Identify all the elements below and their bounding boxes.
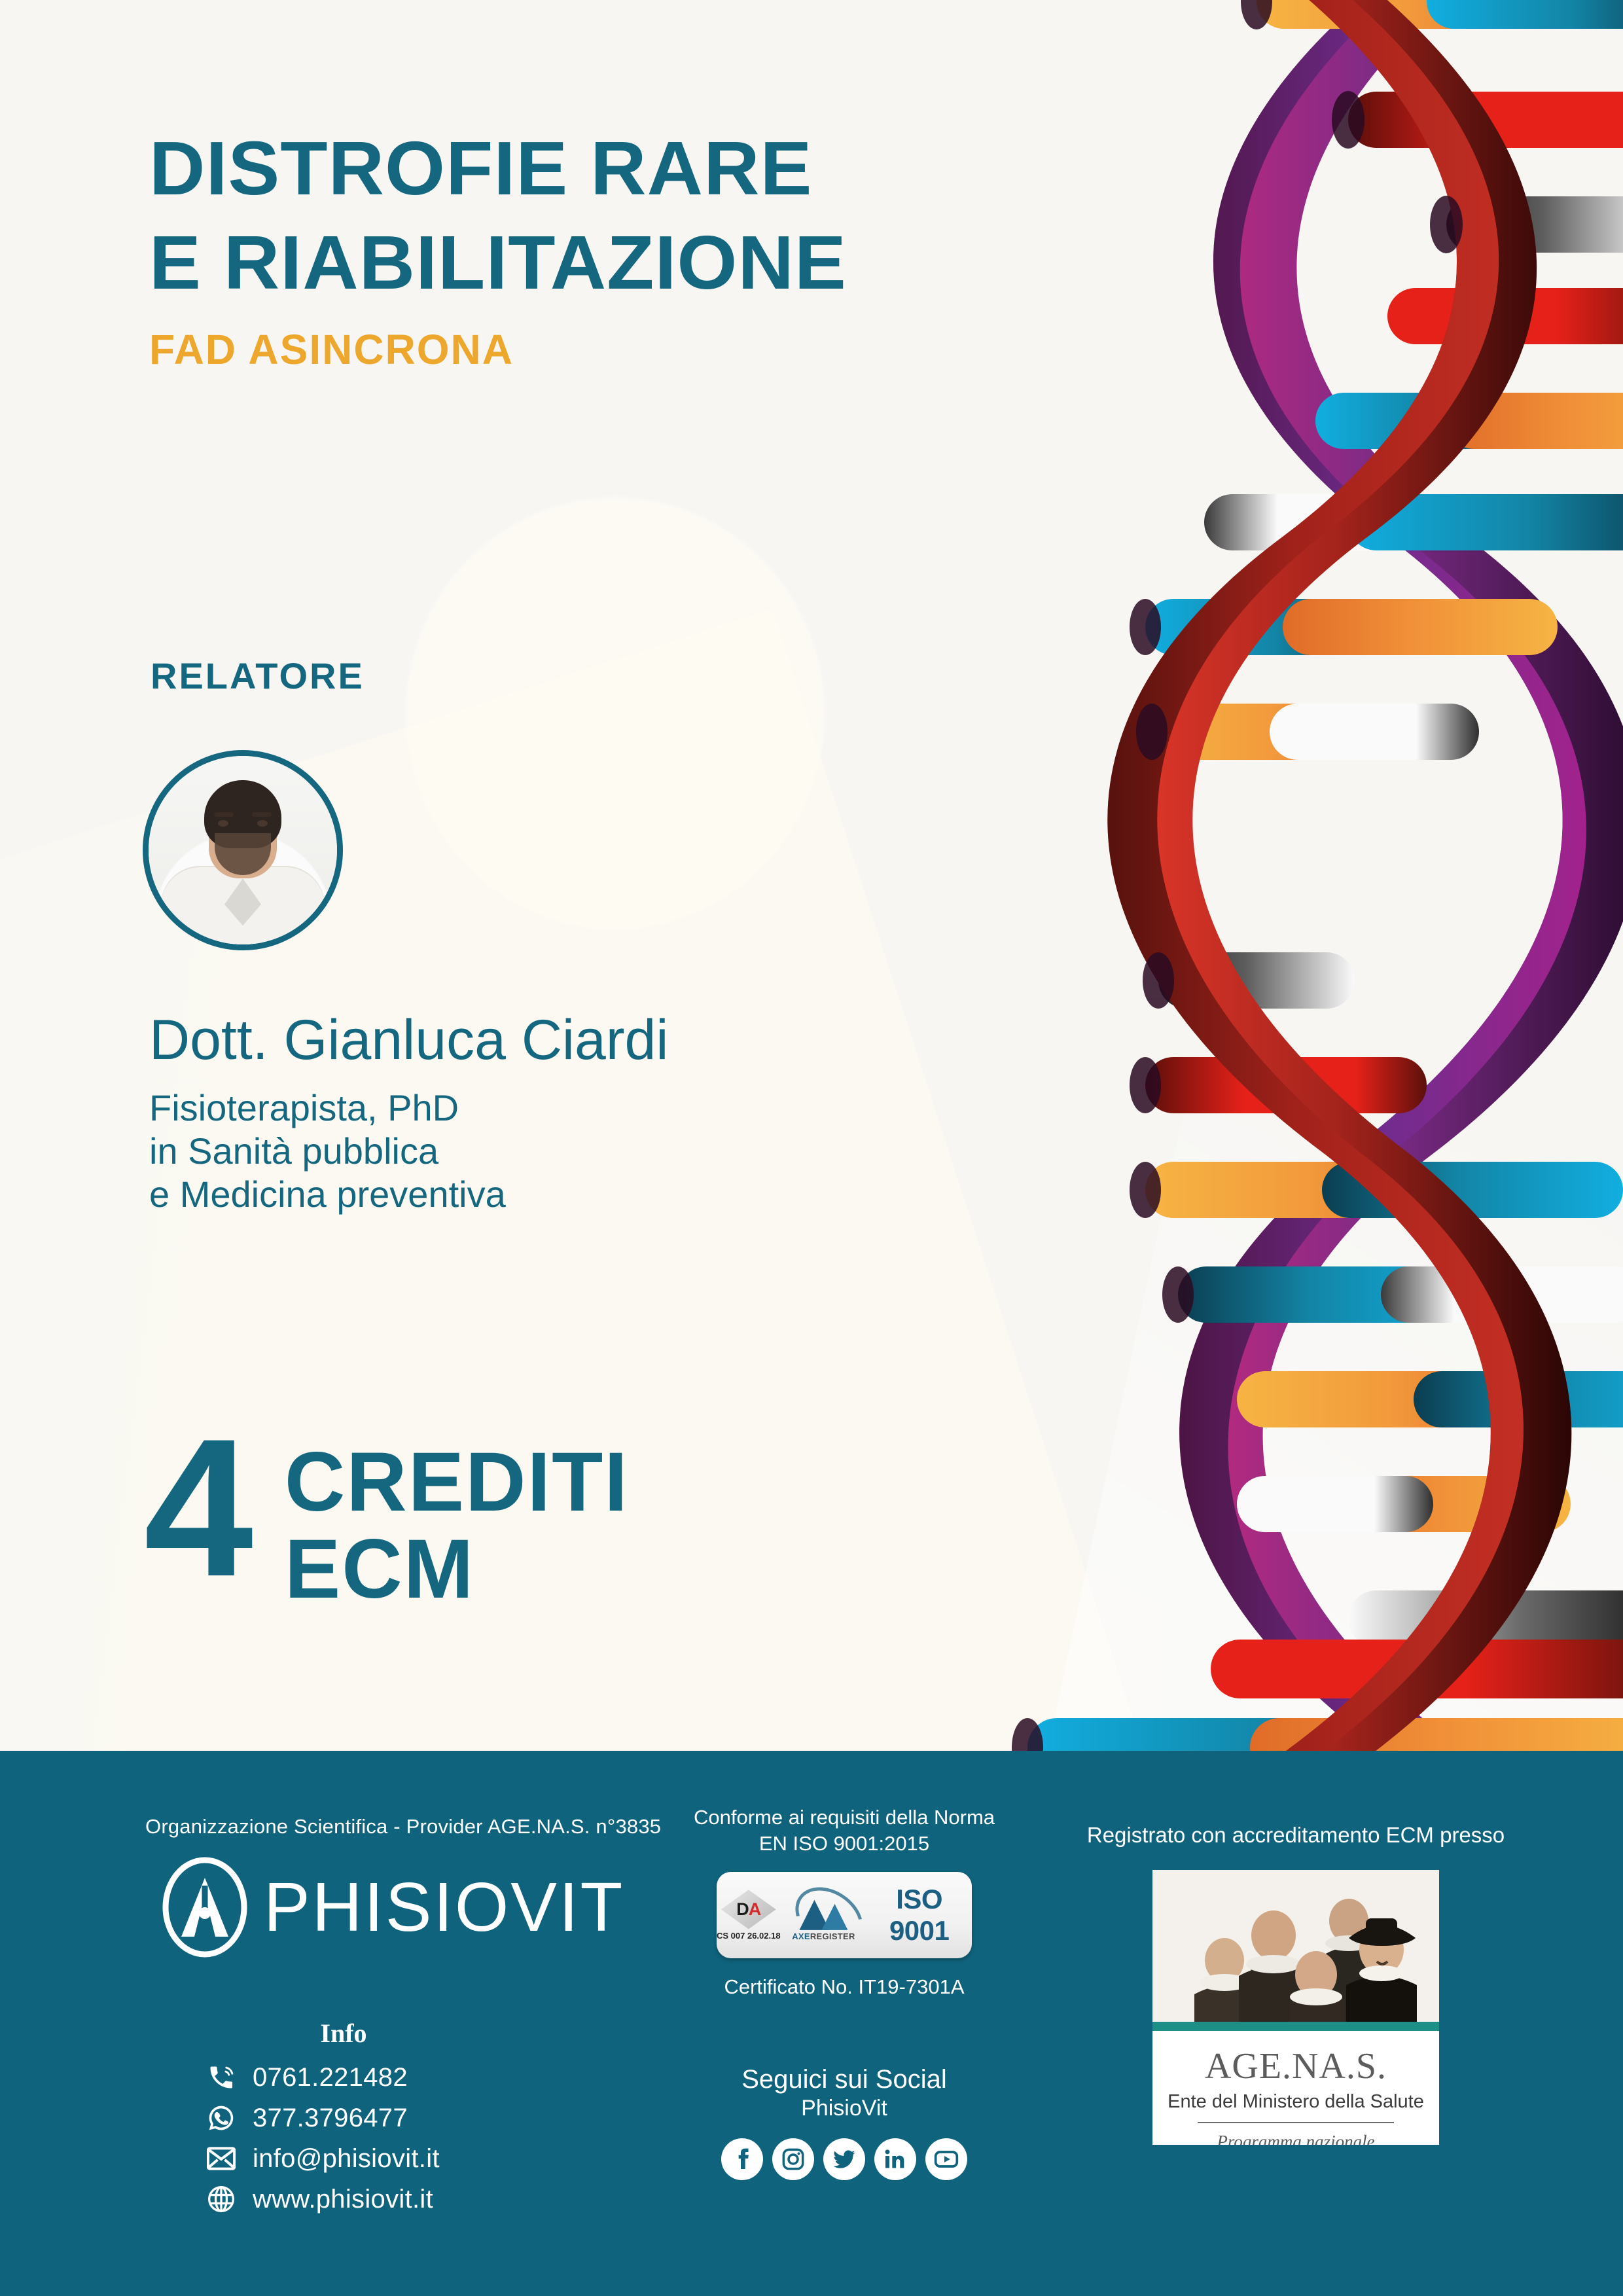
mail-icon [203, 2142, 240, 2175]
agenas-rule [1198, 2122, 1394, 2123]
info-heading: Info [236, 2018, 452, 2049]
page-title: DISTROFIE RARE E RIABILITAZIONE FAD ASIN… [149, 130, 1013, 374]
brand-name: PHISIOVIT [264, 1873, 624, 1942]
title-line-1: DISTROFIE RARE [149, 130, 1030, 207]
speaker-name: Dott. Gianluca Ciardi [149, 1008, 668, 1073]
instagram-icon[interactable] [772, 2138, 814, 2180]
website-value: www.phisiovit.it [253, 2185, 433, 2214]
dna-double-helix-icon [929, 0, 1623, 1754]
ecm-credits: 4 CREDITI ECM [144, 1427, 629, 1613]
whatsapp-icon [203, 2102, 240, 2134]
speaker-section-label: RELATORE [151, 655, 365, 697]
iso-9001-label: ISO 9001 [866, 1884, 972, 1946]
agenas-subtitle: Ente del Ministero della Salute [1162, 2091, 1430, 2113]
axe-mountain-icon [799, 1896, 847, 1930]
twitter-icon[interactable] [823, 2138, 865, 2180]
phisiovit-logo-icon [160, 1856, 249, 1959]
da-code: CS 007 26.02.18 [717, 1931, 781, 1941]
speaker-role-line-2: in Sanità pubblica [149, 1130, 738, 1173]
social-icon-list [654, 2138, 1034, 2180]
contact-row-website[interactable]: www.phisiovit.it [203, 2179, 440, 2219]
iso-certification-block: Conforme ai requisiti della Norma EN ISO… [654, 1751, 1034, 1999]
credits-word-2: ECM [285, 1526, 629, 1613]
contact-row-whatsapp[interactable]: 377.3796477 [203, 2098, 440, 2138]
contact-row-email[interactable]: info@phisiovit.it [203, 2138, 440, 2179]
linkedin-icon[interactable] [874, 2138, 916, 2180]
agenas-heading: Registrato con accreditamento ECM presso [1073, 1823, 1518, 1848]
avatar-eye-left [218, 820, 228, 827]
contact-list: 0761.221482 377.3796477 [203, 2057, 440, 2219]
da-accreditation-mark: DA CS 007 26.02.18 [717, 1890, 781, 1941]
social-block: Seguici sui Social PhisioVit [654, 2065, 1034, 2180]
agenas-divider-bar [1152, 2022, 1439, 2031]
organization-line: Organizzazione Scientifica - Provider AG… [145, 1815, 603, 1839]
credits-word-1: CREDITI [285, 1439, 629, 1526]
title-subtitle: FAD ASINCRONA [149, 325, 1013, 374]
iso-heading: Conforme ai requisiti della Norma EN ISO… [654, 1804, 1034, 1856]
credits-words: CREDITI ECM [285, 1427, 629, 1613]
agenas-name: AGE.NA.S. [1162, 2048, 1430, 2085]
footer: Organizzazione Scientifica - Provider AG… [0, 1751, 1623, 2296]
da-diamond-icon: DA [721, 1890, 776, 1929]
agenas-text: AGE.NA.S. Ente del Ministero della Salut… [1152, 2031, 1439, 2145]
agenas-program: Programma nazionale Educazione Continua … [1162, 2131, 1430, 2145]
agenas-logo-card: AGE.NA.S. Ente del Ministero della Salut… [1152, 1870, 1439, 2145]
agenas-painting-image [1152, 1870, 1439, 2022]
avatar-brow-right [252, 812, 272, 817]
avatar-photo [149, 756, 337, 944]
social-handle: PhisioVit [654, 2096, 1034, 2121]
da-letters: DA [736, 1899, 760, 1920]
iso-heading-line-2: EN ISO 9001:2015 [654, 1831, 1034, 1857]
globe-icon [203, 2183, 240, 2215]
credits-number: 4 [144, 1427, 253, 1588]
brand-logo: PHISIOVIT [160, 1856, 624, 1959]
avatar-eye-right [257, 820, 268, 827]
iso-heading-line-1: Conforme ai requisiti della Norma [654, 1804, 1034, 1831]
agenas-block: Registrato con accreditamento ECM presso [1073, 1751, 1518, 2145]
iso-certificate-number: Certificato No. IT19-7301A [654, 1975, 1034, 1999]
speaker-role-line-3: e Medicina preventiva [149, 1173, 738, 1216]
phone-icon [203, 2061, 240, 2094]
email-value: info@phisiovit.it [253, 2144, 440, 2174]
avatar-brow-left [214, 812, 234, 817]
speaker-role-line-1: Fisioterapista, PhD [149, 1086, 738, 1130]
contact-row-phone[interactable]: 0761.221482 [203, 2057, 440, 2098]
agenas-program-line-1: Programma nazionale [1162, 2131, 1430, 2145]
avatar [143, 750, 343, 950]
poster-canvas: DISTROFIE RARE E RIABILITAZIONE FAD ASIN… [0, 0, 1623, 2296]
whatsapp-value: 377.3796477 [253, 2104, 408, 2133]
phone-value: 0761.221482 [253, 2063, 408, 2092]
axe-register-mark: AXEREGISTER [790, 1890, 858, 1941]
speaker-role: Fisioterapista, PhD in Sanità pubblica e… [149, 1086, 738, 1216]
youtube-icon[interactable] [925, 2138, 967, 2180]
facebook-icon[interactable] [721, 2138, 763, 2180]
iso-badge: DA CS 007 26.02.18 AXEREGISTER ISO 9001 [717, 1872, 972, 1958]
title-line-2: E RIABILITAZIONE [149, 224, 1030, 301]
social-title: Seguici sui Social [654, 2065, 1034, 2094]
